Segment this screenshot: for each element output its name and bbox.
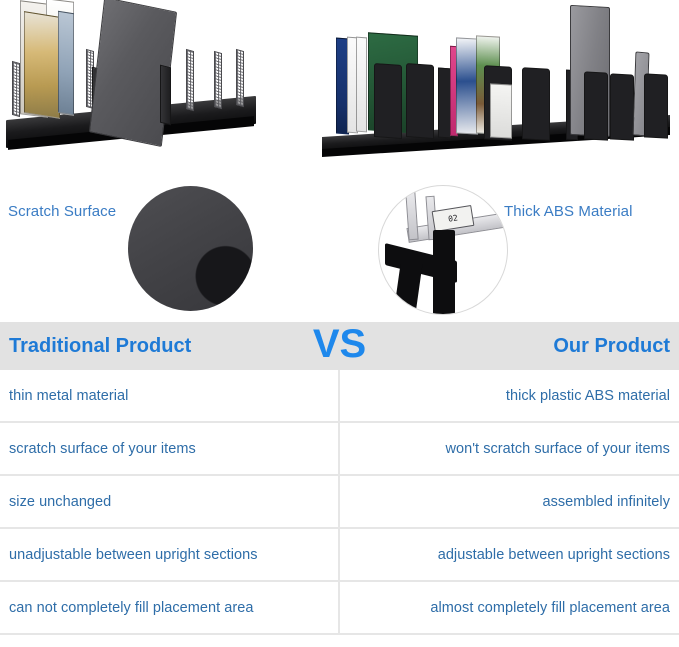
book-blue-edge xyxy=(58,11,74,116)
scratched-surface-circle-icon xyxy=(128,186,253,311)
table-row: can not completely fill placement area a… xyxy=(0,582,679,635)
caliper-jaw-left xyxy=(405,192,418,241)
cell-traditional: size unchanged xyxy=(0,476,340,527)
abs-divider xyxy=(522,67,550,140)
cell-ours: thick plastic ABS material xyxy=(340,370,679,421)
product-photo-strip xyxy=(0,0,679,175)
cell-ours: adjustable between upright sections xyxy=(340,529,679,580)
table-row: unadjustable between upright sections ad… xyxy=(0,529,679,582)
mesh-divider xyxy=(12,61,20,117)
cell-ours: almost completely fill placement area xyxy=(340,582,679,633)
cell-ours: won't scratch surface of your items xyxy=(340,423,679,474)
book-tina-green xyxy=(24,11,60,119)
abs-divider xyxy=(584,71,608,140)
cell-traditional: unadjustable between upright sections xyxy=(0,529,340,580)
cell-traditional: scratch surface of your items xyxy=(0,423,340,474)
feature-callout-row: Scratch Surface 02 Thick ABS Material xyxy=(0,175,679,320)
cell-traditional: can not completely fill placement area xyxy=(0,582,340,633)
table-row: size unchanged assembled infinitely xyxy=(0,476,679,529)
abs-divider xyxy=(406,63,434,139)
mesh-divider xyxy=(214,51,222,109)
header-our-product: Our Product xyxy=(340,335,679,358)
binder-white-2 xyxy=(356,37,367,133)
mesh-divider xyxy=(186,49,194,111)
cell-traditional: thin metal material xyxy=(0,370,340,421)
traditional-product-photo xyxy=(0,0,318,175)
comparison-table: Traditional Product Our Product VS thin … xyxy=(0,322,679,635)
document-sheet xyxy=(490,83,512,138)
callout-label-thick-abs-material: Thick ABS Material xyxy=(504,203,633,220)
header-traditional-product: Traditional Product xyxy=(0,335,340,358)
magazine-blue xyxy=(456,37,478,134)
comparison-table-header: Traditional Product Our Product VS xyxy=(0,322,679,370)
callout-label-scratch-surface: Scratch Surface xyxy=(8,203,116,220)
abs-divider xyxy=(610,73,634,140)
cell-ours: assembled infinitely xyxy=(340,476,679,527)
caliper-measure-circle-icon: 02 xyxy=(378,185,508,315)
abs-divider xyxy=(374,63,402,139)
abs-corner-upright xyxy=(433,230,455,314)
abs-corner-foot xyxy=(393,264,422,314)
panel-divider xyxy=(160,65,171,126)
table-row: scratch surface of your items won't scra… xyxy=(0,423,679,476)
abs-divider xyxy=(644,73,668,138)
our-product-photo xyxy=(318,0,679,175)
comparison-table-body: thin metal material thick plastic ABS ma… xyxy=(0,370,679,635)
mesh-divider xyxy=(236,49,244,107)
table-row: thin metal material thick plastic ABS ma… xyxy=(0,370,679,423)
